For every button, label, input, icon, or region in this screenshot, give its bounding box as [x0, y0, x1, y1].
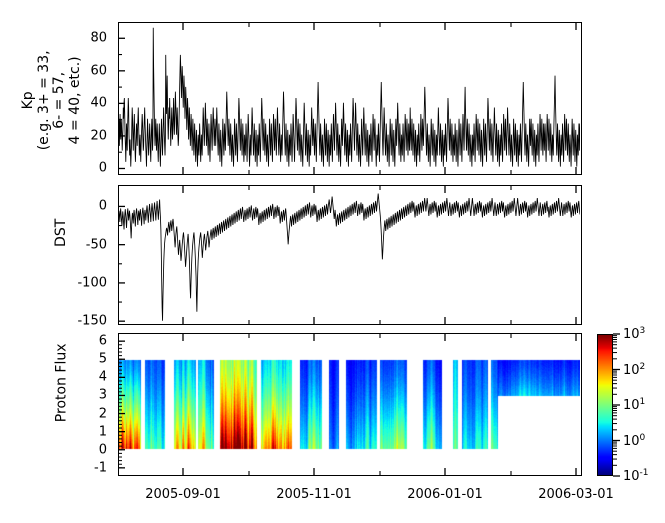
- colorbar-tick-label: 101: [623, 397, 645, 413]
- ytick-label: 2: [0, 407, 107, 420]
- colorbar-tick-label: 100: [623, 432, 645, 448]
- ytick-label: 3: [0, 389, 107, 402]
- kp-plot-panel[interactable]: [118, 22, 582, 175]
- ytick-label: -50: [0, 238, 107, 251]
- ytick-label: -100: [0, 276, 107, 289]
- ytick-label: -150: [0, 315, 107, 328]
- colorbar-tick-label: 102: [623, 361, 645, 377]
- ytick-label: 1: [0, 425, 107, 438]
- proton-flux-plot-panel[interactable]: [118, 333, 582, 476]
- xtick-label: 2005-09-01: [145, 488, 221, 501]
- ytick-label: 80: [0, 32, 107, 45]
- ytick-label: 60: [0, 64, 107, 77]
- ytick-label: -1: [0, 461, 107, 474]
- xtick-label: 2006-01-01: [407, 488, 483, 501]
- ytick-label: 40: [0, 97, 107, 110]
- ytick-label: 6: [0, 335, 107, 348]
- proton-flux-spectrogram: [119, 334, 580, 474]
- ytick-label: 0: [0, 443, 107, 456]
- kp-timeseries: [119, 23, 580, 173]
- colorbar-gradient: [598, 335, 612, 475]
- colorbar-tick-label: 103: [623, 326, 645, 342]
- xtick-label: 2005-11-01: [276, 488, 352, 501]
- space-weather-figure: Kp(e.g. 3+ = 33,6- = 57,4 = 40, etc.) 02…: [0, 0, 665, 523]
- ytick-label: 4: [0, 371, 107, 384]
- xtick-label: 2006-03-01: [538, 488, 614, 501]
- dst-plot-panel[interactable]: [118, 185, 582, 325]
- ytick-label: 0: [0, 200, 107, 213]
- dst-timeseries: [119, 186, 580, 323]
- colorbar-tick-label: 10-1: [623, 468, 649, 484]
- ytick-label: 5: [0, 353, 107, 366]
- colorbar[interactable]: [597, 334, 613, 476]
